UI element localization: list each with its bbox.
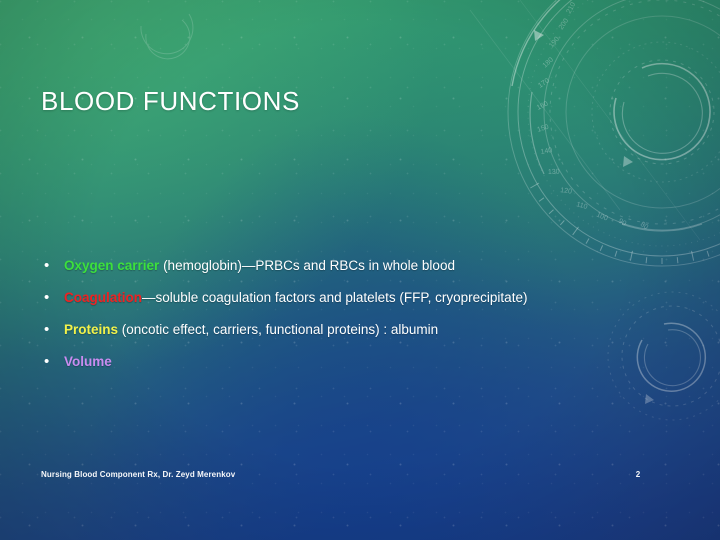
svg-text:80: 80	[639, 221, 650, 231]
svg-text:100: 100	[595, 211, 609, 222]
svg-text:180: 180	[542, 56, 555, 69]
compass-dial-graphic	[508, 0, 720, 266]
svg-text:130: 130	[548, 169, 560, 176]
bullet-text: Volume	[64, 346, 112, 378]
bullet-rest: (oncotic effect, carriers, functional pr…	[118, 322, 438, 337]
bullet-dot-icon: •	[41, 314, 64, 346]
svg-text:190: 190	[548, 36, 561, 50]
svg-text:120: 120	[560, 187, 573, 196]
bullet-text: Proteins (oncotic effect, carriers, func…	[64, 314, 438, 346]
page-title: BLOOD FUNCTIONS	[41, 86, 300, 117]
bullet-keyword: Proteins	[64, 322, 118, 337]
bullet-dot-icon: •	[41, 250, 64, 282]
svg-text:170: 170	[537, 77, 551, 89]
bullet-list: • Oxygen carrier (hemoglobin)—PRBCs and …	[41, 250, 681, 378]
svg-text:90: 90	[617, 218, 627, 228]
bullet-keyword: Oxygen carrier	[64, 258, 159, 273]
svg-text:110: 110	[575, 201, 588, 211]
bullet-rest: (hemoglobin)—PRBCs and RBCs in whole blo…	[159, 258, 455, 273]
bullet-keyword: Coagulation	[64, 290, 142, 305]
list-item: • Volume	[41, 346, 681, 378]
bullet-text: Oxygen carrier (hemoglobin)—PRBCs and RB…	[64, 250, 455, 282]
bullet-dot-icon: •	[41, 346, 64, 378]
faint-arc-graphic	[141, 14, 193, 59]
bullet-keyword: Volume	[64, 354, 112, 369]
svg-text:210: 210	[566, 1, 578, 15]
list-item: • Coagulation—soluble coagulation factor…	[41, 282, 681, 314]
bullet-text: Coagulation—soluble coagulation factors …	[64, 282, 527, 314]
svg-text:160: 160	[536, 100, 550, 111]
presentation-slide: 210 200 190 180 170 160 150 140 130 120 …	[0, 0, 720, 540]
compass-dial-tick-labels: 210 200 190 180 170 160 150 140 130 120 …	[536, 1, 650, 231]
page-number: 2	[618, 470, 658, 479]
list-item: • Proteins (oncotic effect, carriers, fu…	[41, 314, 681, 346]
bullet-rest: —soluble coagulation factors and platele…	[142, 290, 527, 305]
svg-text:200: 200	[558, 17, 570, 31]
bullet-dot-icon: •	[41, 282, 64, 314]
svg-text:150: 150	[536, 124, 549, 134]
svg-text:140: 140	[540, 147, 553, 156]
footer-note: Nursing Blood Component Rx, Dr. Zeyd Mer…	[41, 470, 235, 479]
list-item: • Oxygen carrier (hemoglobin)—PRBCs and …	[41, 250, 681, 282]
